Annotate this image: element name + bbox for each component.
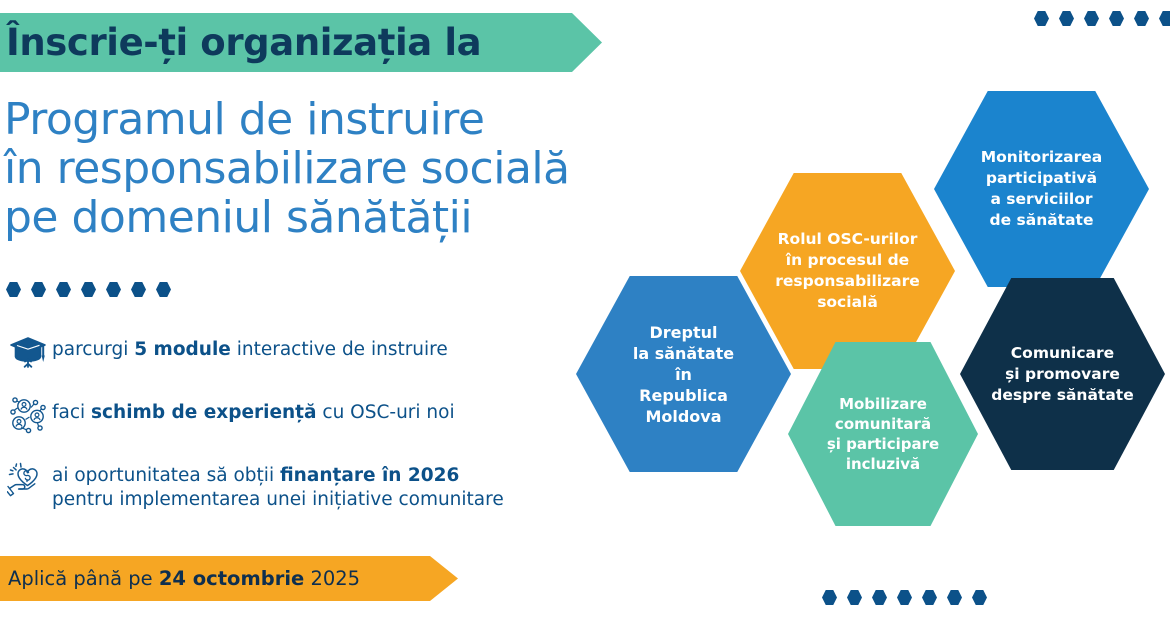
hex-dot-top-right-dot [1059,11,1074,26]
hexagon-label-line: Rolul OSC-urilor [775,229,920,250]
hexagon-label-line: socială [775,292,920,313]
hand-heart-money-icon [4,456,52,500]
hexagon-label-line: și participare [827,434,939,454]
hexagon-label-line: Monitorizarea [981,147,1103,168]
hexagon-label-line: și promovare [991,364,1133,385]
hexagon-rol-osc: Rolul OSC-urilorîn procesul deresponsabi… [740,173,955,369]
hexagon-rol-osc-label: Rolul OSC-urilorîn procesul deresponsabi… [769,229,926,313]
hex-dot-top-right-dot [1084,11,1099,26]
hex-dot-row-left [6,282,171,297]
graduation-cap-icon [4,330,52,374]
hex-dot-left-dot [156,282,171,297]
hexagon-label-line: despre sănătate [991,385,1133,406]
hex-dot-top-right-dot [1134,11,1149,26]
deadline-banner-text: Aplică până pe 24 octombrie 2025 [8,567,360,590]
hexagon-label-line: Dreptul [633,322,734,343]
hexagon-dreptul-la-sanatate-label: Dreptulla sănătateînRepublicaMoldova [627,322,740,427]
hexagon-label-line: în procesul de [775,250,920,271]
hexagon-label-line: participativă [981,168,1103,189]
hexagon-label-line: comunitară [827,414,939,434]
benefit-item: faci schimb de experiență cu OSC-uri noi [4,393,564,437]
hex-dot-top-right-dot [1109,11,1124,26]
deadline-banner: Aplică până pe 24 octombrie 2025 [0,556,458,601]
hexagon-comunicare-label: Comunicareși promovaredespre sănătate [985,343,1139,406]
hexagon-label-line: de sănătate [981,210,1103,231]
hexagon-mobilizare-label: Mobilizarecomunitarăși participareincluz… [821,394,945,474]
benefit-item-text: faci schimb de experiență cu OSC-uri noi [52,393,455,425]
hexagon-label-line: în [633,364,734,385]
hex-dot-left-dot [31,282,46,297]
people-network-icon [4,393,52,437]
hex-dot-top-right-dot [1034,11,1049,26]
benefits-list: parcurgi 5 module interactive de instrui… [4,330,564,531]
poster-canvas: Înscrie-ți organizația la Programul de i… [0,0,1170,628]
hexagon-label-line: incluzivă [827,454,939,474]
hex-dot-left-dot [106,282,121,297]
hexagon-label-line: la sănătate [633,343,734,364]
benefit-item: parcurgi 5 module interactive de instrui… [4,330,564,374]
benefit-item-text: parcurgi 5 module interactive de instrui… [52,330,448,362]
hexagon-monitorizare: Monitorizareaparticipativăa serviciilord… [934,91,1149,287]
hex-dot-left-dot [6,282,21,297]
hexagon-label-line: Republica [633,385,734,406]
hex-dot-left-dot [81,282,96,297]
hexagon-dreptul-la-sanatate: Dreptulla sănătateînRepublicaMoldova [576,276,791,472]
hexagon-label-line: a serviciilor [981,189,1103,210]
hex-dot-left-dot [131,282,146,297]
hexagon-monitorizare-label: Monitorizareaparticipativăa serviciilord… [975,147,1109,231]
hexagon-label-line: responsabilizare [775,271,920,292]
top-banner-text: Înscrie-ți organizația la [6,21,481,64]
benefit-item: ai oportunitatea să obții finanțare în 2… [4,456,564,512]
hexagon-label-line: Comunicare [991,343,1133,364]
hex-dot-row-top-right [1034,11,1170,26]
hex-dot-left-dot [56,282,71,297]
top-banner: Înscrie-ți organizația la [0,13,602,72]
hexagon-label-line: Mobilizare [827,394,939,414]
modules-hexagon-cluster: Monitorizareaparticipativăa serviciilord… [560,60,1170,628]
hexagon-comunicare: Comunicareși promovaredespre sănătate [960,278,1165,470]
hexagon-mobilizare: Mobilizarecomunitarăși participareincluz… [788,342,978,526]
hex-dot-top-right-dot [1159,11,1170,26]
benefit-item-text: ai oportunitatea să obții finanțare în 2… [52,456,504,512]
hexagon-label-line: Moldova [633,406,734,427]
